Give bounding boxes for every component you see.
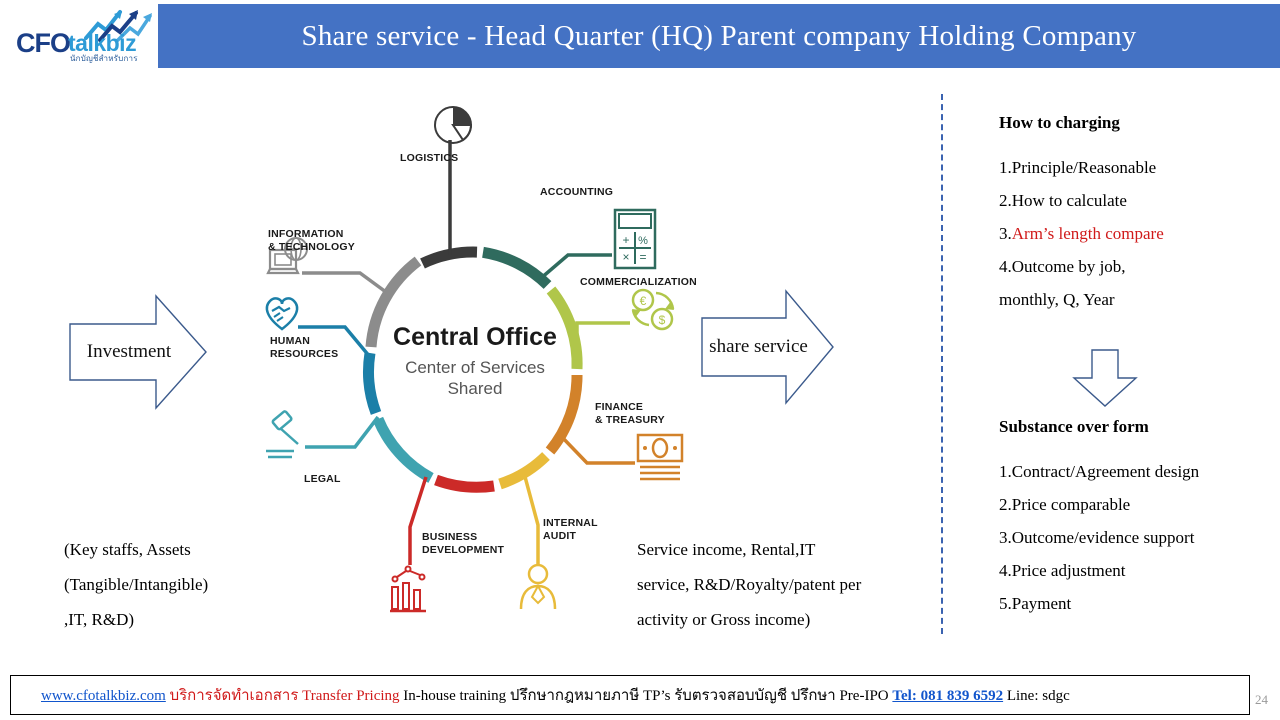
investment-arrow: Investment xyxy=(68,292,208,412)
footer-text: www.cfotalkbiz.com บริการจัดทำเอกสาร Tra… xyxy=(11,683,1070,707)
substance-item-2-text: Price comparable xyxy=(1012,495,1130,514)
charging-item-4-text: Outcome by job, xyxy=(1012,257,1126,276)
connector-finance xyxy=(560,435,635,463)
substance-item-2: 2.Price comparable xyxy=(999,488,1199,521)
svg-text:%: % xyxy=(638,235,648,247)
down-block-arrow-icon xyxy=(1070,348,1140,408)
node-label-commercialization: COMMERCIALIZATION xyxy=(580,276,697,289)
pie-chart-icon xyxy=(435,107,471,143)
substance-heading: Substance over form xyxy=(999,417,1199,437)
svg-text:€: € xyxy=(640,294,647,308)
share-service-caption-line-3: activity or Gross income) xyxy=(637,602,917,637)
investment-caption-line-1: (Key staffs, Assets xyxy=(64,532,364,567)
substance-item-3-text: Outcome/evidence support xyxy=(1012,528,1195,547)
svg-text:+: + xyxy=(622,233,629,247)
charging-item-3-num: 3. xyxy=(999,224,1012,243)
footer-thai-service-red: บริการจัดทำเอกสาร xyxy=(170,688,299,704)
charging-item-4: 4.Outcome by job, xyxy=(999,250,1164,283)
substance-item-4-num: 4. xyxy=(999,561,1012,580)
segment-legal xyxy=(378,419,431,478)
footer-transfer-pricing-red: Transfer Pricing xyxy=(302,688,399,704)
substance-item-1-num: 1. xyxy=(999,462,1012,481)
how-to-charging-heading: How to charging xyxy=(999,113,1164,133)
brand-logo[interactable]: CFO talkbiz นักบัญชีสำหรับการ xyxy=(6,4,156,68)
substance-item-1-text: Contract/Agreement design xyxy=(1012,462,1199,481)
footer-line-id: Line: sdgc xyxy=(1007,688,1070,704)
substance-item-4-text: Price adjustment xyxy=(1012,561,1126,580)
substance-item-4: 4.Price adjustment xyxy=(999,554,1199,587)
segment-internal-audit xyxy=(500,456,546,484)
how-to-charging-panel: How to charging 1.Principle/Reasonable 2… xyxy=(999,113,1164,316)
footer-website-link[interactable]: www.cfotalkbiz.com xyxy=(41,688,166,704)
substance-item-3-num: 3. xyxy=(999,528,1012,547)
share-service-caption-line-2: service, R&D/Royalty/patent per xyxy=(637,567,917,602)
substance-item-5-num: 5. xyxy=(999,594,1012,613)
node-label-internal-audit: INTERNAL AUDIT xyxy=(543,517,598,542)
bar-chart-growth-icon xyxy=(390,567,426,612)
wheel-center-subtitle-line1: Center of Services xyxy=(250,357,700,378)
right-block-arrow-icon xyxy=(700,288,835,406)
wheel-center-title: Central Office xyxy=(250,323,700,352)
vertical-dashed-divider xyxy=(941,94,943,634)
substance-item-3: 3.Outcome/evidence support xyxy=(999,521,1199,554)
wheel-center-subtitle: Center of Services Shared xyxy=(250,357,700,399)
page-title: Share service - Head Quarter (HQ) Parent… xyxy=(158,4,1280,68)
logo-tagline-thai: นักบัญชีสำหรับการ xyxy=(70,52,138,65)
charging-item-5-text: monthly, Q, Year xyxy=(999,290,1115,309)
node-label-finance-treasury: FINANCE & TREASURY xyxy=(595,401,665,426)
header-bar: Share service - Head Quarter (HQ) Parent… xyxy=(158,4,1280,68)
svg-text:×: × xyxy=(622,250,629,264)
charging-item-2-num: 2. xyxy=(999,191,1012,210)
substance-item-2-num: 2. xyxy=(999,495,1012,514)
share-service-arrow: share service xyxy=(700,288,835,406)
share-service-caption: Service income, Rental,IT service, R&D/R… xyxy=(637,532,917,637)
node-label-business-development: BUSINESS DEVELOPMENT xyxy=(422,531,504,556)
segment-business-development xyxy=(436,480,494,487)
share-service-caption-line-1: Service income, Rental,IT xyxy=(637,532,917,567)
substance-over-form-panel: Substance over form 1.Contract/Agreement… xyxy=(999,417,1199,620)
footer-bar: www.cfotalkbiz.com บริการจัดทำเอกสาร Tra… xyxy=(10,675,1250,715)
charging-item-2: 2.How to calculate xyxy=(999,184,1164,217)
connector-information-technology xyxy=(302,273,390,295)
down-flow-arrow xyxy=(1070,348,1140,408)
segment-accounting xyxy=(483,252,548,285)
charging-item-1: 1.Principle/Reasonable xyxy=(999,151,1164,184)
charging-item-4-num: 4. xyxy=(999,257,1012,276)
charging-item-1-text: Principle/Reasonable xyxy=(1012,158,1156,177)
gavel-icon xyxy=(266,411,298,457)
node-label-legal: LEGAL xyxy=(304,473,341,486)
svg-text:=: = xyxy=(639,250,646,264)
connector-internal-audit xyxy=(524,473,538,565)
auditor-person-icon xyxy=(521,565,555,609)
calculator-icon: + % × = xyxy=(615,210,655,268)
banknote-icon xyxy=(638,435,682,479)
connector-legal xyxy=(305,417,378,447)
charging-item-1-num: 1. xyxy=(999,158,1012,177)
node-label-logistics: LOGISTICS xyxy=(400,152,458,165)
charging-item-3: 3.Arm’s length compare xyxy=(999,217,1164,250)
charging-item-5: monthly, Q, Year xyxy=(999,283,1164,316)
footer-inhouse-training: In-house training xyxy=(403,688,506,704)
logo-primary-text: CFO xyxy=(16,28,70,59)
footer-thai-services: ปรึกษากฎหมายภาษี TP’s รับตรวจสอบบัญชี ปร… xyxy=(510,688,889,704)
investment-caption-line-2: (Tangible/Intangible) xyxy=(64,567,364,602)
charging-item-3-text: Arm’s length compare xyxy=(1012,224,1164,243)
node-label-information-technology: INFORMATION & TECHNOLOGY xyxy=(268,228,355,253)
substance-item-1: 1.Contract/Agreement design xyxy=(999,455,1199,488)
charging-item-2-text: How to calculate xyxy=(1012,191,1127,210)
substance-item-5-text: Payment xyxy=(1012,594,1072,613)
node-label-accounting: ACCOUNTING xyxy=(540,186,613,199)
right-block-arrow-icon xyxy=(68,292,208,412)
substance-item-5: 5.Payment xyxy=(999,587,1199,620)
wheel-center-subtitle-line2: Shared xyxy=(250,378,700,399)
page-number: 24 xyxy=(1255,692,1268,708)
investment-caption: (Key staffs, Assets (Tangible/Intangible… xyxy=(64,532,364,637)
investment-caption-line-3: ,IT, R&D) xyxy=(64,602,364,637)
footer-tel-link[interactable]: Tel: 081 839 6592 xyxy=(892,688,1003,704)
